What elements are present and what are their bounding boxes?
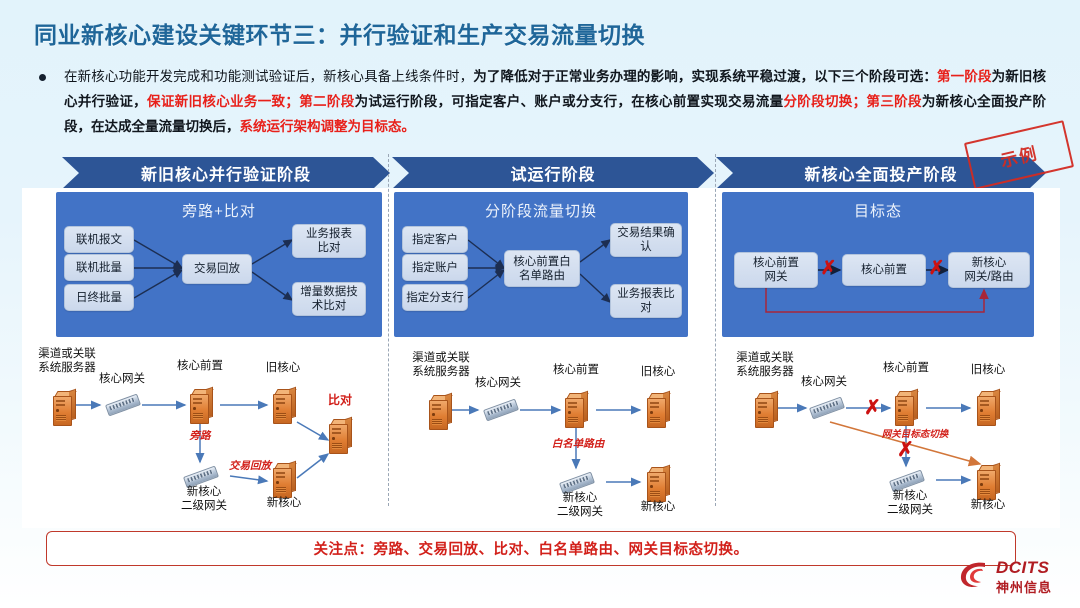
stage1-input-1[interactable]: 联机报文 <box>64 226 134 253</box>
stage2-label-frontend: 核心前置 <box>538 364 614 378</box>
stage2-server-newcore-icon <box>644 466 670 500</box>
stage3-server-newcore-icon <box>974 464 1000 498</box>
stage1-gateway-icon <box>106 396 140 414</box>
stage1-server-source-icon <box>50 390 76 424</box>
stage2-input-2[interactable]: 指定账户 <box>402 254 468 281</box>
stage1-subgateway-icon <box>184 468 218 486</box>
stage1-label-oldcore: 旧核心 <box>247 362 319 376</box>
dcits-logo: DCITS 神州信息 <box>958 556 1070 600</box>
stage1-label-newcore: 新核心 <box>248 497 320 511</box>
stage3-server-oldcore-icon <box>974 390 1000 424</box>
stage1-server-oldcore-icon <box>270 388 296 422</box>
dcits-mark-icon <box>958 559 992 591</box>
stage1-label-gateway: 核心网关 <box>86 373 158 387</box>
page-title: 同业新核心建设关键环节三：并行验证和生产交易流量切换 <box>34 16 645 50</box>
stage-banner-1[interactable]: 新旧核心并行验证阶段 <box>62 157 390 189</box>
stage3-subgateway-icon <box>890 472 924 490</box>
stage3-diagram-x-icon-2: ✗ <box>897 442 914 459</box>
dcits-logo-en: DCITS <box>996 558 1050 578</box>
bottom-note: 关注点：旁路、交易回放、比对、白名单路由、网关目标态切换。 <box>46 531 1016 566</box>
bullet-seg-1: 为了降低对于正常业务办理的影响，实现系统平稳过渡，以下三个阶段可选： <box>473 69 937 84</box>
panel-separator-2 <box>715 154 716 506</box>
stage1-server-compare-icon <box>326 418 352 452</box>
stage3-flow-1[interactable]: 核心前置 网关 <box>734 252 818 288</box>
stage2-gateway-icon <box>484 401 518 419</box>
stage2-panel: 分阶段流量切换 指定客户 指定账户 指定分支行 核心前置白 名单路由 交易结果确… <box>394 192 688 337</box>
stage3-x-icon-1: ✗ <box>820 260 837 277</box>
stage1-output-1[interactable]: 业务报表 比对 <box>292 224 366 258</box>
stage1-input-3[interactable]: 日终批量 <box>64 284 134 311</box>
stage1-hub[interactable]: 交易回放 <box>182 254 252 284</box>
stage1-output-2[interactable]: 增量数据技 术比对 <box>292 282 366 316</box>
slide-root: 同业新核心建设关键环节三：并行验证和生产交易流量切换 在新核心功能开发完成和功能… <box>0 0 1080 608</box>
stage3-annotation-gateway-switch: 网关目标态切换 <box>866 428 964 442</box>
stage1-annotation-bypass: 旁路 <box>177 430 223 444</box>
stage2-server-oldcore-icon <box>644 392 670 426</box>
bullet-seg-10: 系统运行架构调整为目标态。 <box>240 119 416 134</box>
bullet-paragraph: 在新核心功能开发完成和功能测试验证后，新核心具备上线条件时，为了降低对于正常业务… <box>36 64 1046 139</box>
stage3-diagram-x-icon-1: ✗ <box>864 400 881 417</box>
stage1-panel: 旁路+比对 联机报文 联机批量 日终批量 交易回放 业务报表 比对 增量数据技 … <box>56 192 382 337</box>
stage2-hub[interactable]: 核心前置白 名单路由 <box>504 250 580 287</box>
stage1-input-2[interactable]: 联机批量 <box>64 254 134 281</box>
stage1-label-compare: 比对 <box>318 394 362 408</box>
stage3-label-subgateway: 新核心 二级网关 <box>870 490 950 517</box>
stage2-label-oldcore: 旧核心 <box>622 366 694 380</box>
stage2-input-3[interactable]: 指定分支行 <box>402 284 468 311</box>
stage3-label-newcore: 新核心 <box>952 499 1024 513</box>
stage3-label-gateway: 核心网关 <box>788 376 860 390</box>
stage3-label-source: 渠道或关联 系统服务器 <box>722 352 808 379</box>
bullet-seg-0: 在新核心功能开发完成和功能测试验证后，新核心具备上线条件时， <box>64 69 473 84</box>
panel-separator-1 <box>388 154 389 506</box>
stage2-server-source-icon <box>426 394 452 428</box>
stage1-label-frontend: 核心前置 <box>162 360 238 374</box>
stage2-input-1[interactable]: 指定客户 <box>402 226 468 253</box>
stage3-panel: 目标态 核心前置 网关 核心前置 新核心 网关/路由 ✗ ✗ <box>722 192 1034 337</box>
stage2-server-diagram: 渠道或关联 系统服务器 核心网关 核心前置 旧核心 白名单路由 新核心 二级网关 <box>390 344 712 530</box>
stage3-label-oldcore: 旧核心 <box>952 364 1024 378</box>
dcits-logo-cn: 神州信息 <box>996 577 1052 596</box>
stage1-server-diagram: 渠道或关联 系统服务器 核心网关 核心前置 旧核心 旁路 新核心 二级网关 交易… <box>22 344 370 530</box>
stage3-label-frontend: 核心前置 <box>868 362 944 376</box>
stage3-server-diagram: 渠道或关联 系统服务器 核心网关 核心前置 旧核心 ✗ ✗ 网关目标态切换 新核… <box>718 344 1058 530</box>
bullet-seg-2: 第一阶段 <box>937 69 992 84</box>
stage2-subgateway-icon <box>560 474 594 492</box>
stage2-annotation-whitelist: 白名单路由 <box>542 438 614 452</box>
bullet-dot-icon <box>39 74 46 81</box>
bullet-seg-4: 保证新旧核心业务一致； <box>147 94 299 109</box>
stage3-flow-3[interactable]: 新核心 网关/路由 <box>948 252 1030 288</box>
stage2-label-gateway: 核心网关 <box>462 377 534 391</box>
stage3-gateway-icon <box>810 399 844 417</box>
stage2-label-newcore: 新核心 <box>622 501 694 515</box>
stage-banner-2[interactable]: 试运行阶段 <box>392 157 714 189</box>
bullet-seg-8: 第三阶段 <box>866 94 922 109</box>
stage3-server-source-icon <box>752 392 778 426</box>
stage2-output-1[interactable]: 交易结果确 认 <box>610 223 682 257</box>
stage3-server-frontend-icon <box>892 390 918 424</box>
stage3-flow-2[interactable]: 核心前置 <box>842 254 926 286</box>
stage2-server-frontend-icon <box>562 392 588 426</box>
stage2-label-subgateway: 新核心 二级网关 <box>540 492 620 519</box>
bullet-seg-7: 分阶段切换； <box>783 94 866 109</box>
bullet-seg-6: 为试运行阶段，可指定客户、账户或分支行，在核心前置实现交易流量 <box>355 94 784 109</box>
stage1-label-source: 渠道或关联 系统服务器 <box>24 348 110 375</box>
stage1-label-subgateway: 新核心 二级网关 <box>164 486 244 513</box>
stage1-server-newcore-icon <box>270 462 296 496</box>
bullet-seg-5: 第二阶段 <box>299 94 355 109</box>
stage1-server-frontend-icon <box>187 388 213 422</box>
stage2-output-2[interactable]: 业务报表比 对 <box>610 284 682 318</box>
bullet-text: 在新核心功能开发完成和功能测试验证后，新核心具备上线条件时，为了降低对于正常业务… <box>64 64 1046 139</box>
stage3-x-icon-2: ✗ <box>928 260 945 277</box>
stage2-label-source: 渠道或关联 系统服务器 <box>398 352 484 379</box>
